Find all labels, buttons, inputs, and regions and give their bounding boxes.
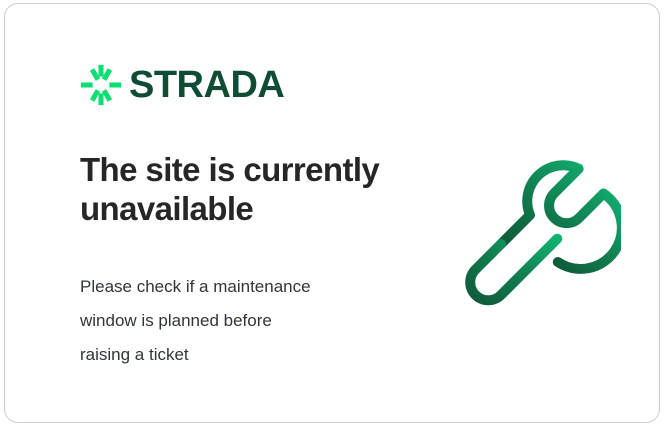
page-title: The site is currently unavailable	[80, 151, 440, 228]
description-line: Please check if a maintenance	[80, 270, 400, 304]
wrench-illustration	[457, 152, 621, 316]
status-description: Please check if a maintenance window is …	[80, 270, 400, 372]
strada-wordmark: STRADA	[129, 66, 284, 104]
wrench-icon	[457, 152, 621, 316]
description-line: raising a ticket	[80, 338, 400, 372]
status-card: STRADA The site is currently unavailable…	[4, 3, 660, 423]
brand-block: STRADA	[80, 61, 430, 109]
strada-logo: STRADA	[80, 61, 430, 109]
description-line: window is planned before	[80, 304, 400, 338]
maintenance-page: STRADA The site is currently unavailable…	[0, 0, 666, 436]
strada-asterisk-icon	[80, 64, 122, 106]
